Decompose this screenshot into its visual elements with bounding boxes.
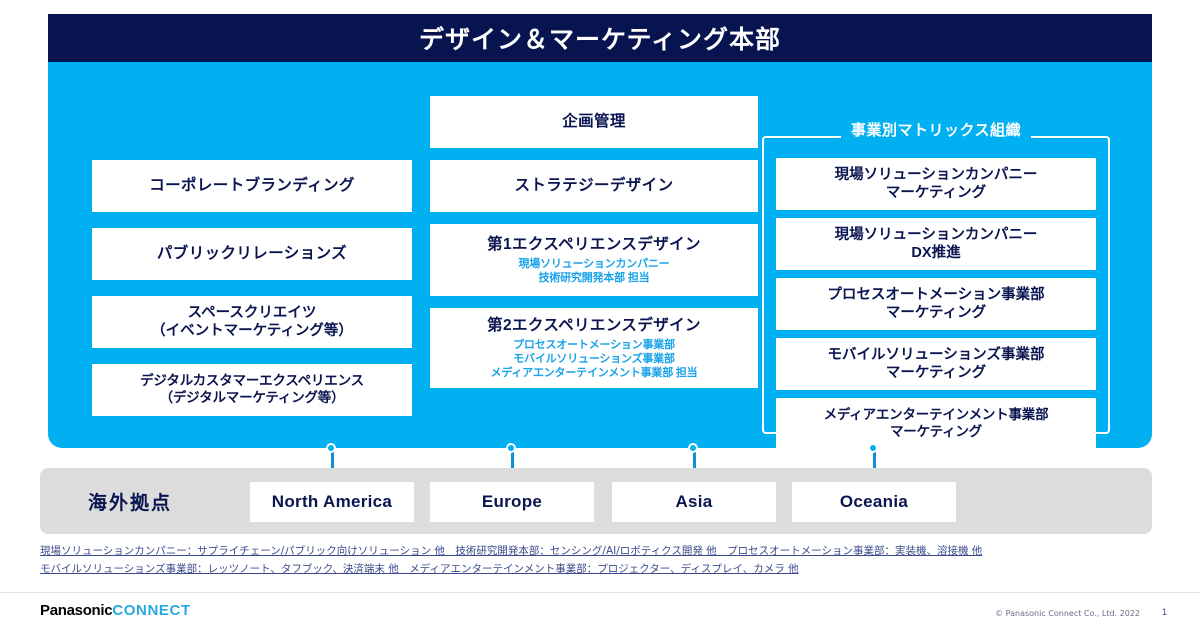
connector-top-dot-icon	[688, 443, 698, 453]
org-box-digital-customer-experience[interactable]: デジタルカスタマーエクスペリエンス （デジタルマーケティング等）	[92, 364, 412, 416]
org-box-sub-line: モバイルソリューションズ事業部	[491, 352, 698, 366]
connector-top-dot-icon	[506, 443, 516, 453]
org-box-first-experience-design[interactable]: 第1エクスペリエンスデザイン 現場ソリューションカンパニー 技術研究開発本部 担…	[430, 224, 758, 296]
org-box-label: パブリックリレーションズ	[157, 244, 347, 263]
matrix-box-line1: メディアエンターテインメント事業部	[824, 407, 1049, 424]
org-box-label-second-line: （デジタルマーケティング等）	[160, 390, 345, 407]
brand-logo: PanasonicCONNECT	[40, 602, 191, 619]
org-box-label: 第1エクスペリエンスデザイン	[487, 235, 701, 254]
org-box-label-second-line: （イベントマーケティング等）	[151, 322, 353, 340]
org-box-planning-management[interactable]: 企画管理	[430, 96, 758, 148]
org-box-sub-line: プロセスオートメーション事業部	[491, 338, 698, 352]
copyright-text: © Panasonic Connect Co., Ltd. 2022	[995, 609, 1140, 618]
region-box-europe[interactable]: Europe	[430, 482, 594, 522]
footnote-line-2: モバイルソリューションズ事業部：レッツノート、タフブック、決済端末 他 メディア…	[40, 560, 1160, 578]
matrix-box-line1: 現場ソリューションカンパニー	[835, 166, 1038, 184]
matrix-box-line2: DX推進	[911, 244, 960, 262]
matrix-box-mobile-solutions-marketing[interactable]: モバイルソリューションズ事業部 マーケティング	[776, 338, 1096, 390]
matrix-box-site-solutions-dx[interactable]: 現場ソリューションカンパニー DX推進	[776, 218, 1096, 270]
matrix-box-process-automation-marketing[interactable]: プロセスオートメーション事業部 マーケティング	[776, 278, 1096, 330]
org-box-sub-line: メディアエンターテインメント事業部 担当	[491, 366, 698, 380]
org-box-space-creates[interactable]: スペースクリエイツ （イベントマーケティング等）	[92, 296, 412, 348]
matrix-box-line1: モバイルソリューションズ事業部	[828, 346, 1045, 364]
org-box-label: 企画管理	[562, 112, 626, 131]
page-title: デザイン＆マーケティング本部	[419, 20, 781, 56]
region-box-asia[interactable]: Asia	[612, 482, 776, 522]
footnote-line-1: 現場ソリューションカンパニー：サプライチェーン/パブリック向けソリューション 他…	[40, 542, 1160, 560]
footer-divider	[0, 592, 1200, 593]
connector-top-dot-icon	[868, 443, 878, 453]
matrix-group-title-text: 事業別マトリックス組織	[841, 122, 1031, 139]
matrix-group-title: 事業別マトリックス組織	[762, 119, 1110, 140]
connector-top-dot-icon	[326, 443, 336, 453]
org-box-corporate-branding[interactable]: コーポレートブランディング	[92, 160, 412, 212]
org-box-label: デジタルカスタマーエクスペリエンス	[140, 373, 364, 390]
region-box-oceania[interactable]: Oceania	[792, 482, 956, 522]
matrix-box-line2: マーケティング	[886, 364, 986, 382]
org-box-sub-line: 現場ソリューションカンパニー	[519, 257, 670, 271]
page-number: 1	[1162, 607, 1167, 617]
matrix-box-line2: マーケティング	[890, 424, 982, 441]
org-box-public-relations[interactable]: パブリックリレーションズ	[92, 228, 412, 280]
matrix-box-line2: マーケティング	[886, 304, 986, 322]
matrix-box-line1: 現場ソリューションカンパニー	[835, 226, 1038, 244]
org-box-second-experience-design[interactable]: 第2エクスペリエンスデザイン プロセスオートメーション事業部 モバイルソリューシ…	[430, 308, 758, 388]
region-box-north-america[interactable]: North America	[250, 482, 414, 522]
matrix-box-site-solutions-marketing[interactable]: 現場ソリューションカンパニー マーケティング	[776, 158, 1096, 210]
org-box-sub-line: 技術研究開発本部 担当	[519, 271, 670, 285]
footnotes: 現場ソリューションカンパニー：サプライチェーン/パブリック向けソリューション 他…	[40, 542, 1160, 579]
slide-title-bar: デザイン＆マーケティング本部	[48, 14, 1152, 62]
matrix-box-line1: プロセスオートメーション事業部	[827, 286, 1044, 304]
org-box-label: ストラテジーデザイン	[514, 176, 673, 195]
overseas-bases-label: 海外拠点	[88, 488, 238, 515]
org-box-label: コーポレートブランディング	[149, 176, 355, 195]
matrix-box-line2: マーケティング	[886, 184, 986, 202]
org-box-strategy-design[interactable]: ストラテジーデザイン	[430, 160, 758, 212]
brand-primary-text: Panasonic	[40, 602, 112, 619]
brand-secondary-text: CONNECT	[112, 602, 190, 619]
slide-root: デザイン＆マーケティング本部 コーポレートブランディング パブリックリレーション…	[0, 0, 1200, 630]
matrix-box-media-entertainment-marketing[interactable]: メディアエンターテインメント事業部 マーケティング	[776, 398, 1096, 450]
org-box-label: 第2エクスペリエンスデザイン	[487, 316, 701, 335]
org-box-label: スペースクリエイツ	[188, 304, 317, 322]
